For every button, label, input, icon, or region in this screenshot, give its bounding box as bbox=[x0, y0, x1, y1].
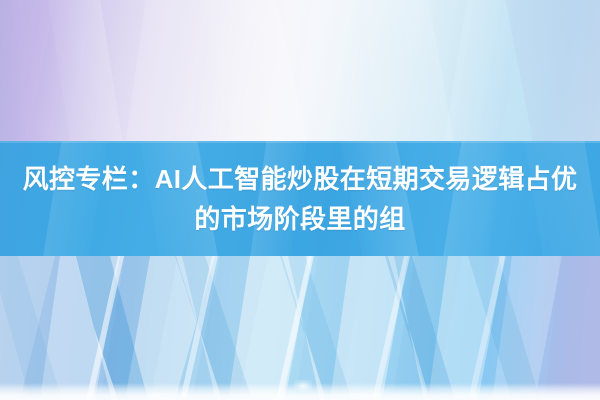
top-chevron-band-3 bbox=[123, 0, 211, 142]
top-chevron-band-1 bbox=[0, 0, 57, 142]
top-chevron-band-7 bbox=[442, 0, 525, 142]
bottom-white-fade-strip bbox=[0, 383, 600, 400]
top-chevron-band-9 bbox=[0, 0, 29, 142]
banner-title: 风控专栏：AI人工智能炒股在短期交易逻辑占优 的市场阶段里的组 bbox=[0, 141, 600, 256]
banner-title-line-1: 风控专栏：AI人工智能炒股在短期交易逻辑占优 bbox=[23, 159, 578, 199]
top-gradient-section bbox=[0, 0, 600, 142]
top-chevron-band-4 bbox=[197, 0, 311, 142]
top-chevron-band-6 bbox=[357, 0, 457, 142]
banner-title-line-2: 的市场阶段里的组 bbox=[194, 199, 405, 239]
bottom-chevron-shapes bbox=[0, 256, 600, 400]
top-chevron-band-5 bbox=[285, 0, 375, 142]
title-band: 风控专栏：AI人工智能炒股在短期交易逻辑占优 的市场阶段里的组 bbox=[0, 141, 600, 256]
top-chevron-band-2 bbox=[47, 0, 126, 142]
banner-graphic: 风控专栏：AI人工智能炒股在短期交易逻辑占优 的市场阶段里的组 bbox=[0, 0, 600, 400]
bottom-chevron-section bbox=[0, 256, 600, 400]
top-chevron-band-8 bbox=[503, 0, 600, 142]
